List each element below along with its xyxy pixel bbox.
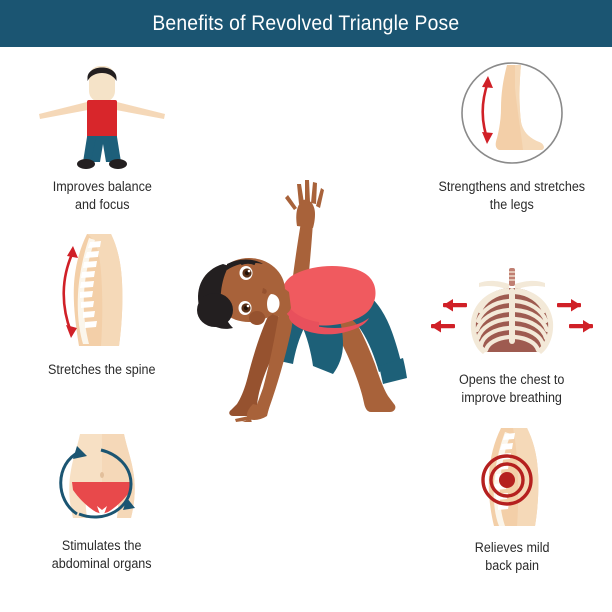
benefit-item-legs: Strengthens and stretches the legs [418, 58, 606, 214]
benefit-caption-abdomen: Stimulates the abdominal organs [52, 537, 152, 573]
page-title: Benefits of Revolved Triangle Pose [153, 12, 460, 36]
benefit-caption-spine: Stretches the spine [48, 361, 155, 379]
benefit-caption-back: Relieves mild back pain [475, 539, 550, 575]
benefit-caption-legs: Strengthens and stretches the legs [439, 178, 586, 214]
infographic-canvas: Benefits of Revolved Triangle Pose Impro… [0, 0, 612, 612]
header-bar: Benefits of Revolved Triangle Pose [0, 0, 612, 47]
abdomen-rotation-icon [27, 432, 177, 532]
pose-ear [249, 311, 265, 325]
benefit-caption-chest: Opens the chest to improve breathing [459, 371, 564, 407]
pose-hair-bun [197, 293, 233, 327]
benefit-item-back: Relieves mild back pain [418, 424, 606, 575]
leg-in-circle-icon [437, 58, 587, 173]
benefit-item-balance: Improves balance and focus [8, 58, 196, 214]
benefit-item-spine: Stretches the spine [8, 228, 196, 379]
standing-child-icon [27, 58, 177, 173]
ribcage-expansion-icon [421, 266, 603, 366]
revolved-triangle-pose-figure [193, 160, 423, 422]
benefit-item-abdomen: Stimulates the abdominal organs [8, 432, 196, 573]
spine-torso-icon [27, 228, 177, 356]
benefit-item-chest: Opens the chest to improve breathing [418, 266, 606, 407]
benefit-caption-balance: Improves balance and focus [52, 178, 151, 214]
pose-raised-hand [285, 180, 324, 228]
back-pain-target-icon [437, 424, 587, 534]
